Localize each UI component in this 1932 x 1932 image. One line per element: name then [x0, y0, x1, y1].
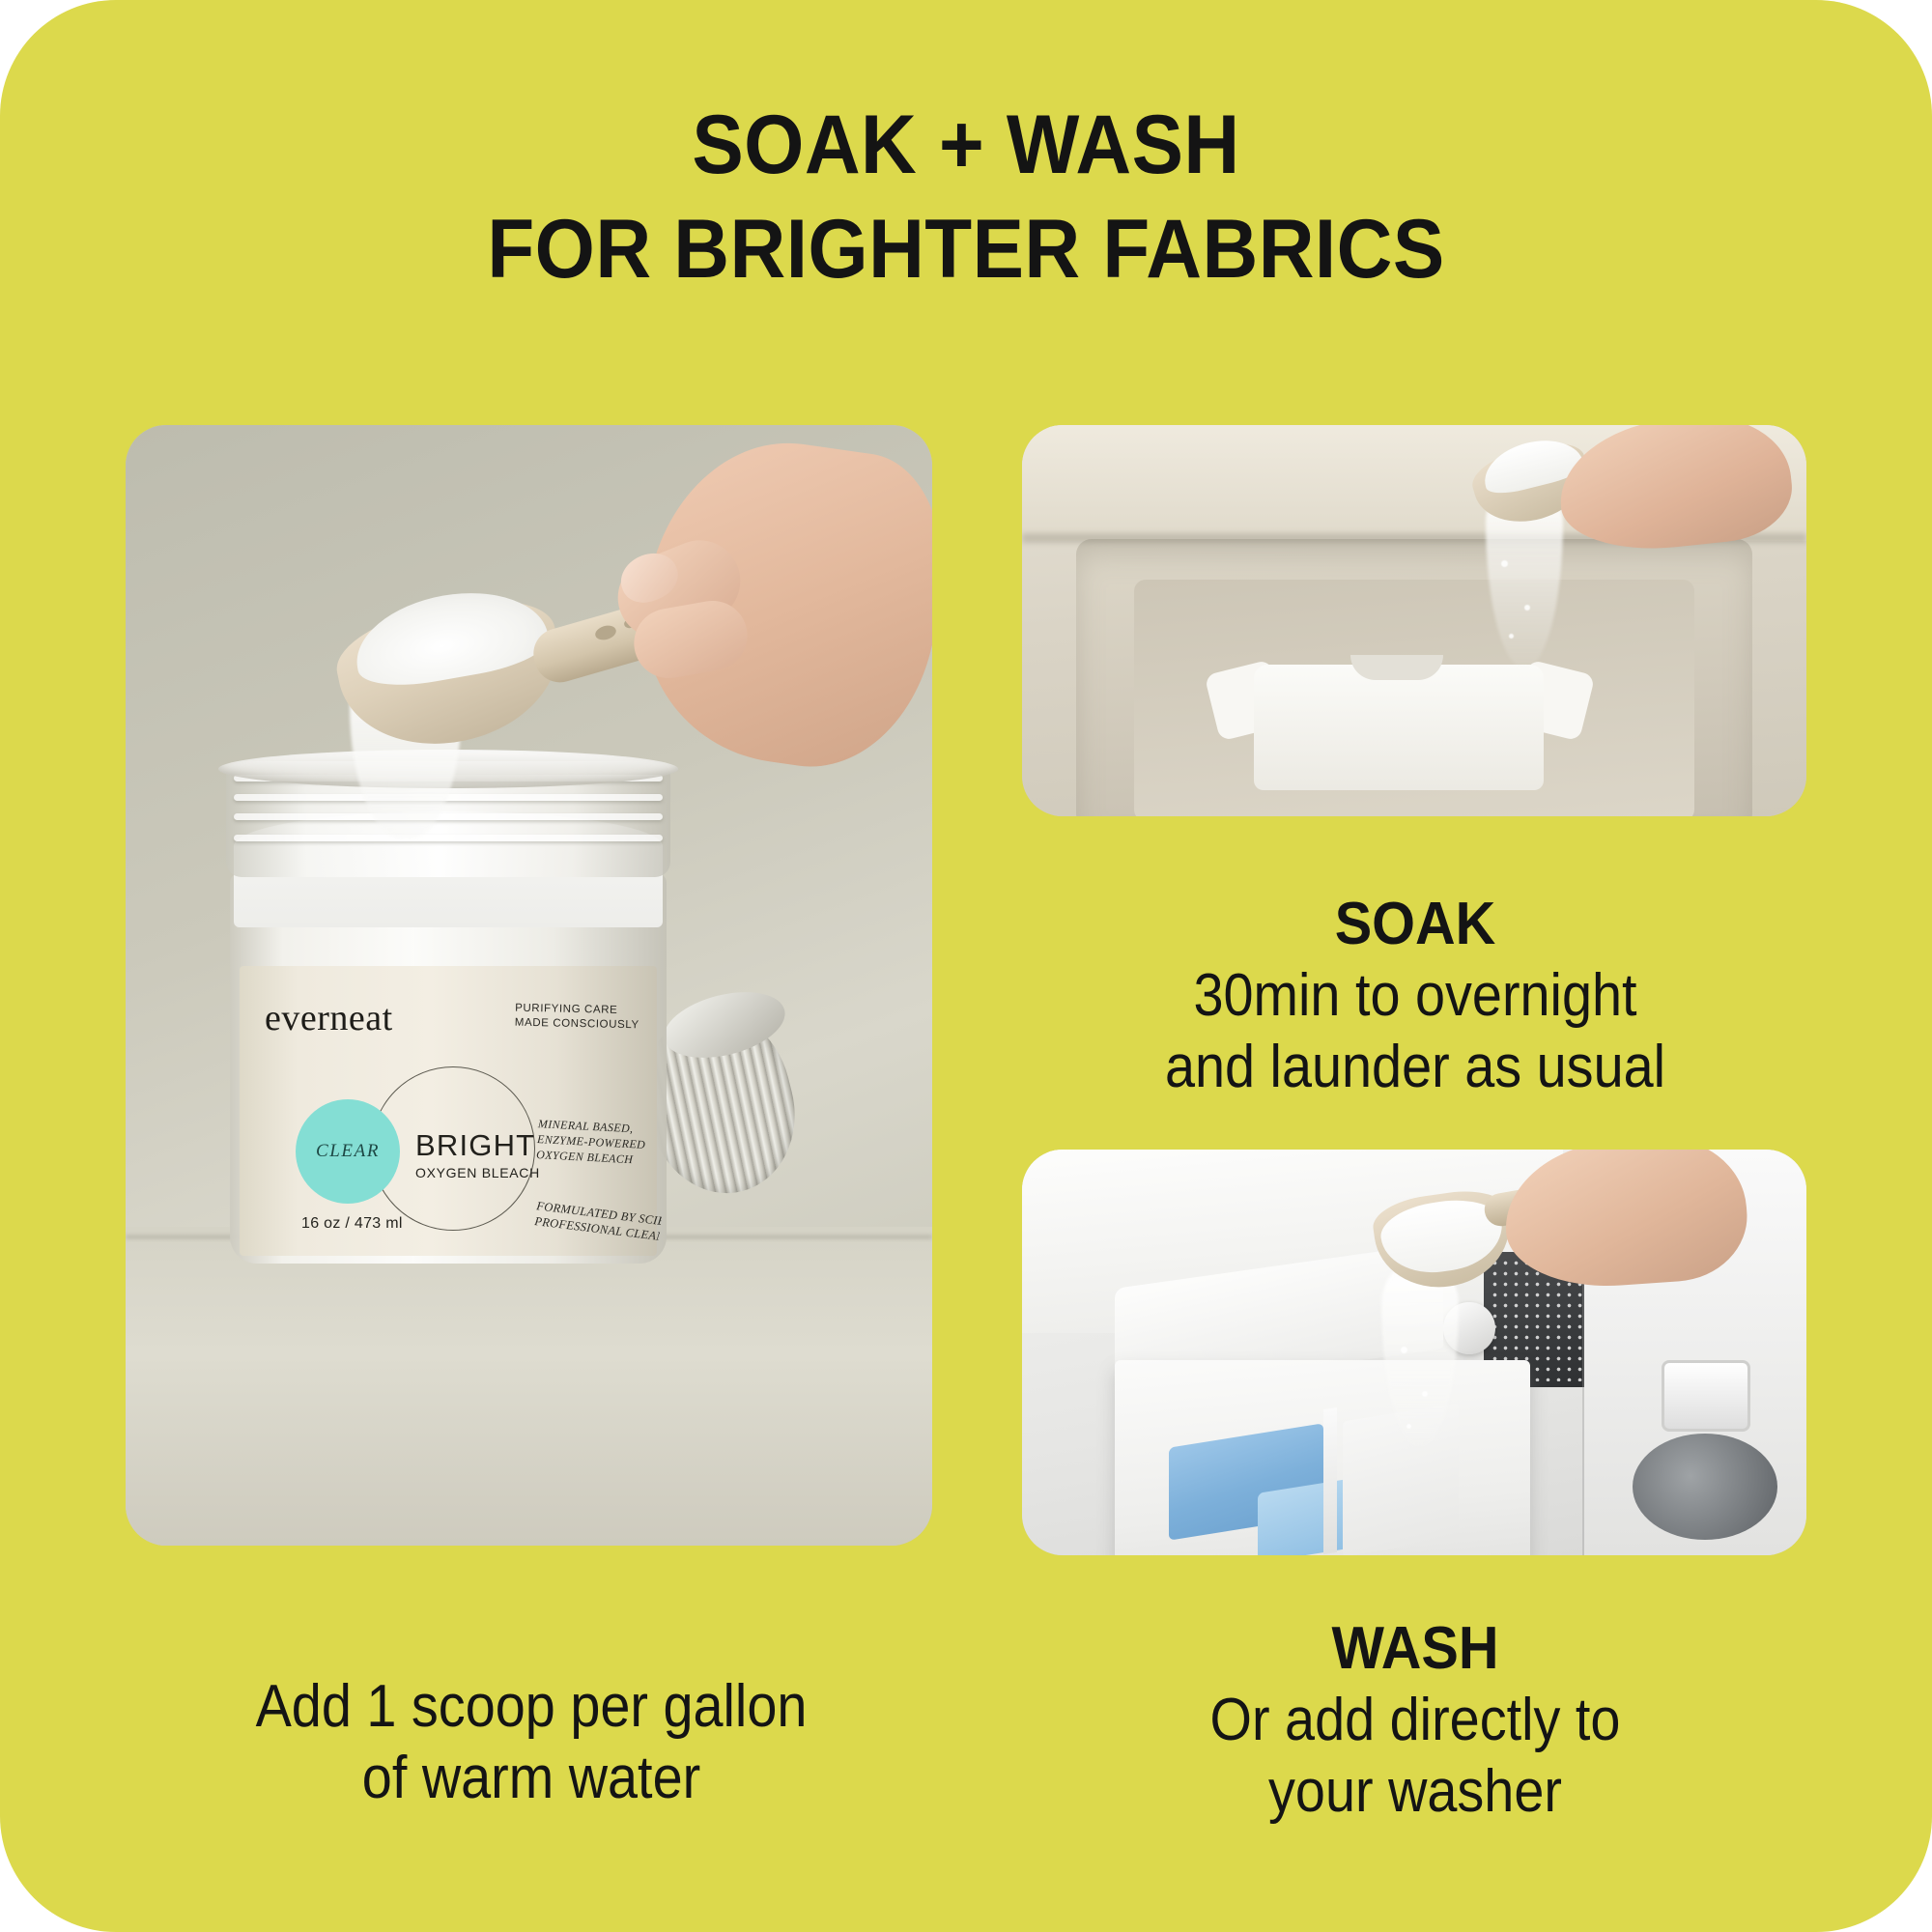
product-subtitle: OXYGEN BLEACH — [415, 1165, 540, 1180]
label-tagline: PURIFYING CARE MADE CONSCIOUSLY — [515, 1002, 639, 1034]
jar-thread — [234, 835, 663, 841]
soak-panel: 2 — [1022, 425, 1806, 816]
label-size: 16 oz / 473 ml — [301, 1215, 403, 1233]
clear-badge: CLEAR — [296, 1099, 400, 1204]
clear-badge-label: CLEAR — [316, 1141, 380, 1162]
soak-caption: SOAK 30min to overnight and launder as u… — [966, 889, 1864, 1103]
powder-speck — [1509, 634, 1514, 639]
powder-speck — [1401, 1347, 1407, 1353]
soak-caption-line-1: 30min to overnight — [1011, 960, 1820, 1032]
white-shirt — [1254, 665, 1544, 790]
label-description: MINERAL BASED, ENZYME-POWERED OXYGEN BLE… — [536, 1116, 647, 1168]
product-label: everneat PURIFYING CARE MADE CONSCIOUSLY… — [240, 966, 657, 1256]
main-caption-line-1: Add 1 scoop per gallon — [123, 1671, 940, 1743]
main-caption: Add 1 scoop per gallon of warm water — [77, 1671, 985, 1814]
main-jar-panel: everneat PURIFYING CARE MADE CONSCIOUSLY… — [126, 425, 932, 1546]
powder-speck — [1406, 1424, 1411, 1429]
headline-line-1: SOAK + WASH — [68, 93, 1864, 197]
powder-speck — [1524, 605, 1530, 611]
shirt-collar — [1350, 655, 1443, 680]
wash-caption-line-2: your washer — [1011, 1756, 1820, 1828]
powder-speck — [1501, 560, 1508, 567]
wash-caption-line-1: Or add directly to — [1011, 1685, 1820, 1756]
wash-caption: WASH Or add directly to your washer — [966, 1613, 1864, 1828]
compartment-divider — [1323, 1407, 1337, 1554]
soak-caption-line-2: and launder as usual — [1011, 1032, 1820, 1103]
countertop — [126, 1227, 932, 1546]
door-handle — [1662, 1360, 1750, 1432]
product-name: BRIGHT OXYGEN BLEACH — [415, 1128, 540, 1180]
wash-panel: 2 — [1022, 1150, 1806, 1555]
powder-speck — [1422, 1391, 1428, 1397]
washer-photo — [1022, 1150, 1806, 1555]
jar-thread — [234, 813, 663, 820]
tagline-line-2: MADE CONSCIOUSLY — [515, 1016, 639, 1034]
label-credentials: FORMULATED BY SCIENT PROFESSIONAL CLEANE… — [534, 1198, 663, 1244]
page-title: SOAK + WASH FOR BRIGHTER FABRICS — [0, 93, 1932, 301]
jar-photo: everneat PURIFYING CARE MADE CONSCIOUSLY… — [126, 425, 932, 1546]
soak-caption-title: SOAK — [998, 889, 1833, 960]
washer-drum — [1633, 1434, 1777, 1540]
wash-caption-title: WASH — [998, 1613, 1833, 1685]
sink-photo — [1022, 425, 1806, 816]
product-name-text: BRIGHT — [415, 1128, 535, 1162]
main-caption-line-2: of warm water — [123, 1743, 940, 1814]
headline-line-2: FOR BRIGHTER FABRICS — [68, 197, 1864, 301]
brand-name: everneat — [265, 997, 393, 1039]
instruction-card: SOAK + WASH FOR BRIGHTER FABRICS evernea… — [0, 0, 1932, 1932]
